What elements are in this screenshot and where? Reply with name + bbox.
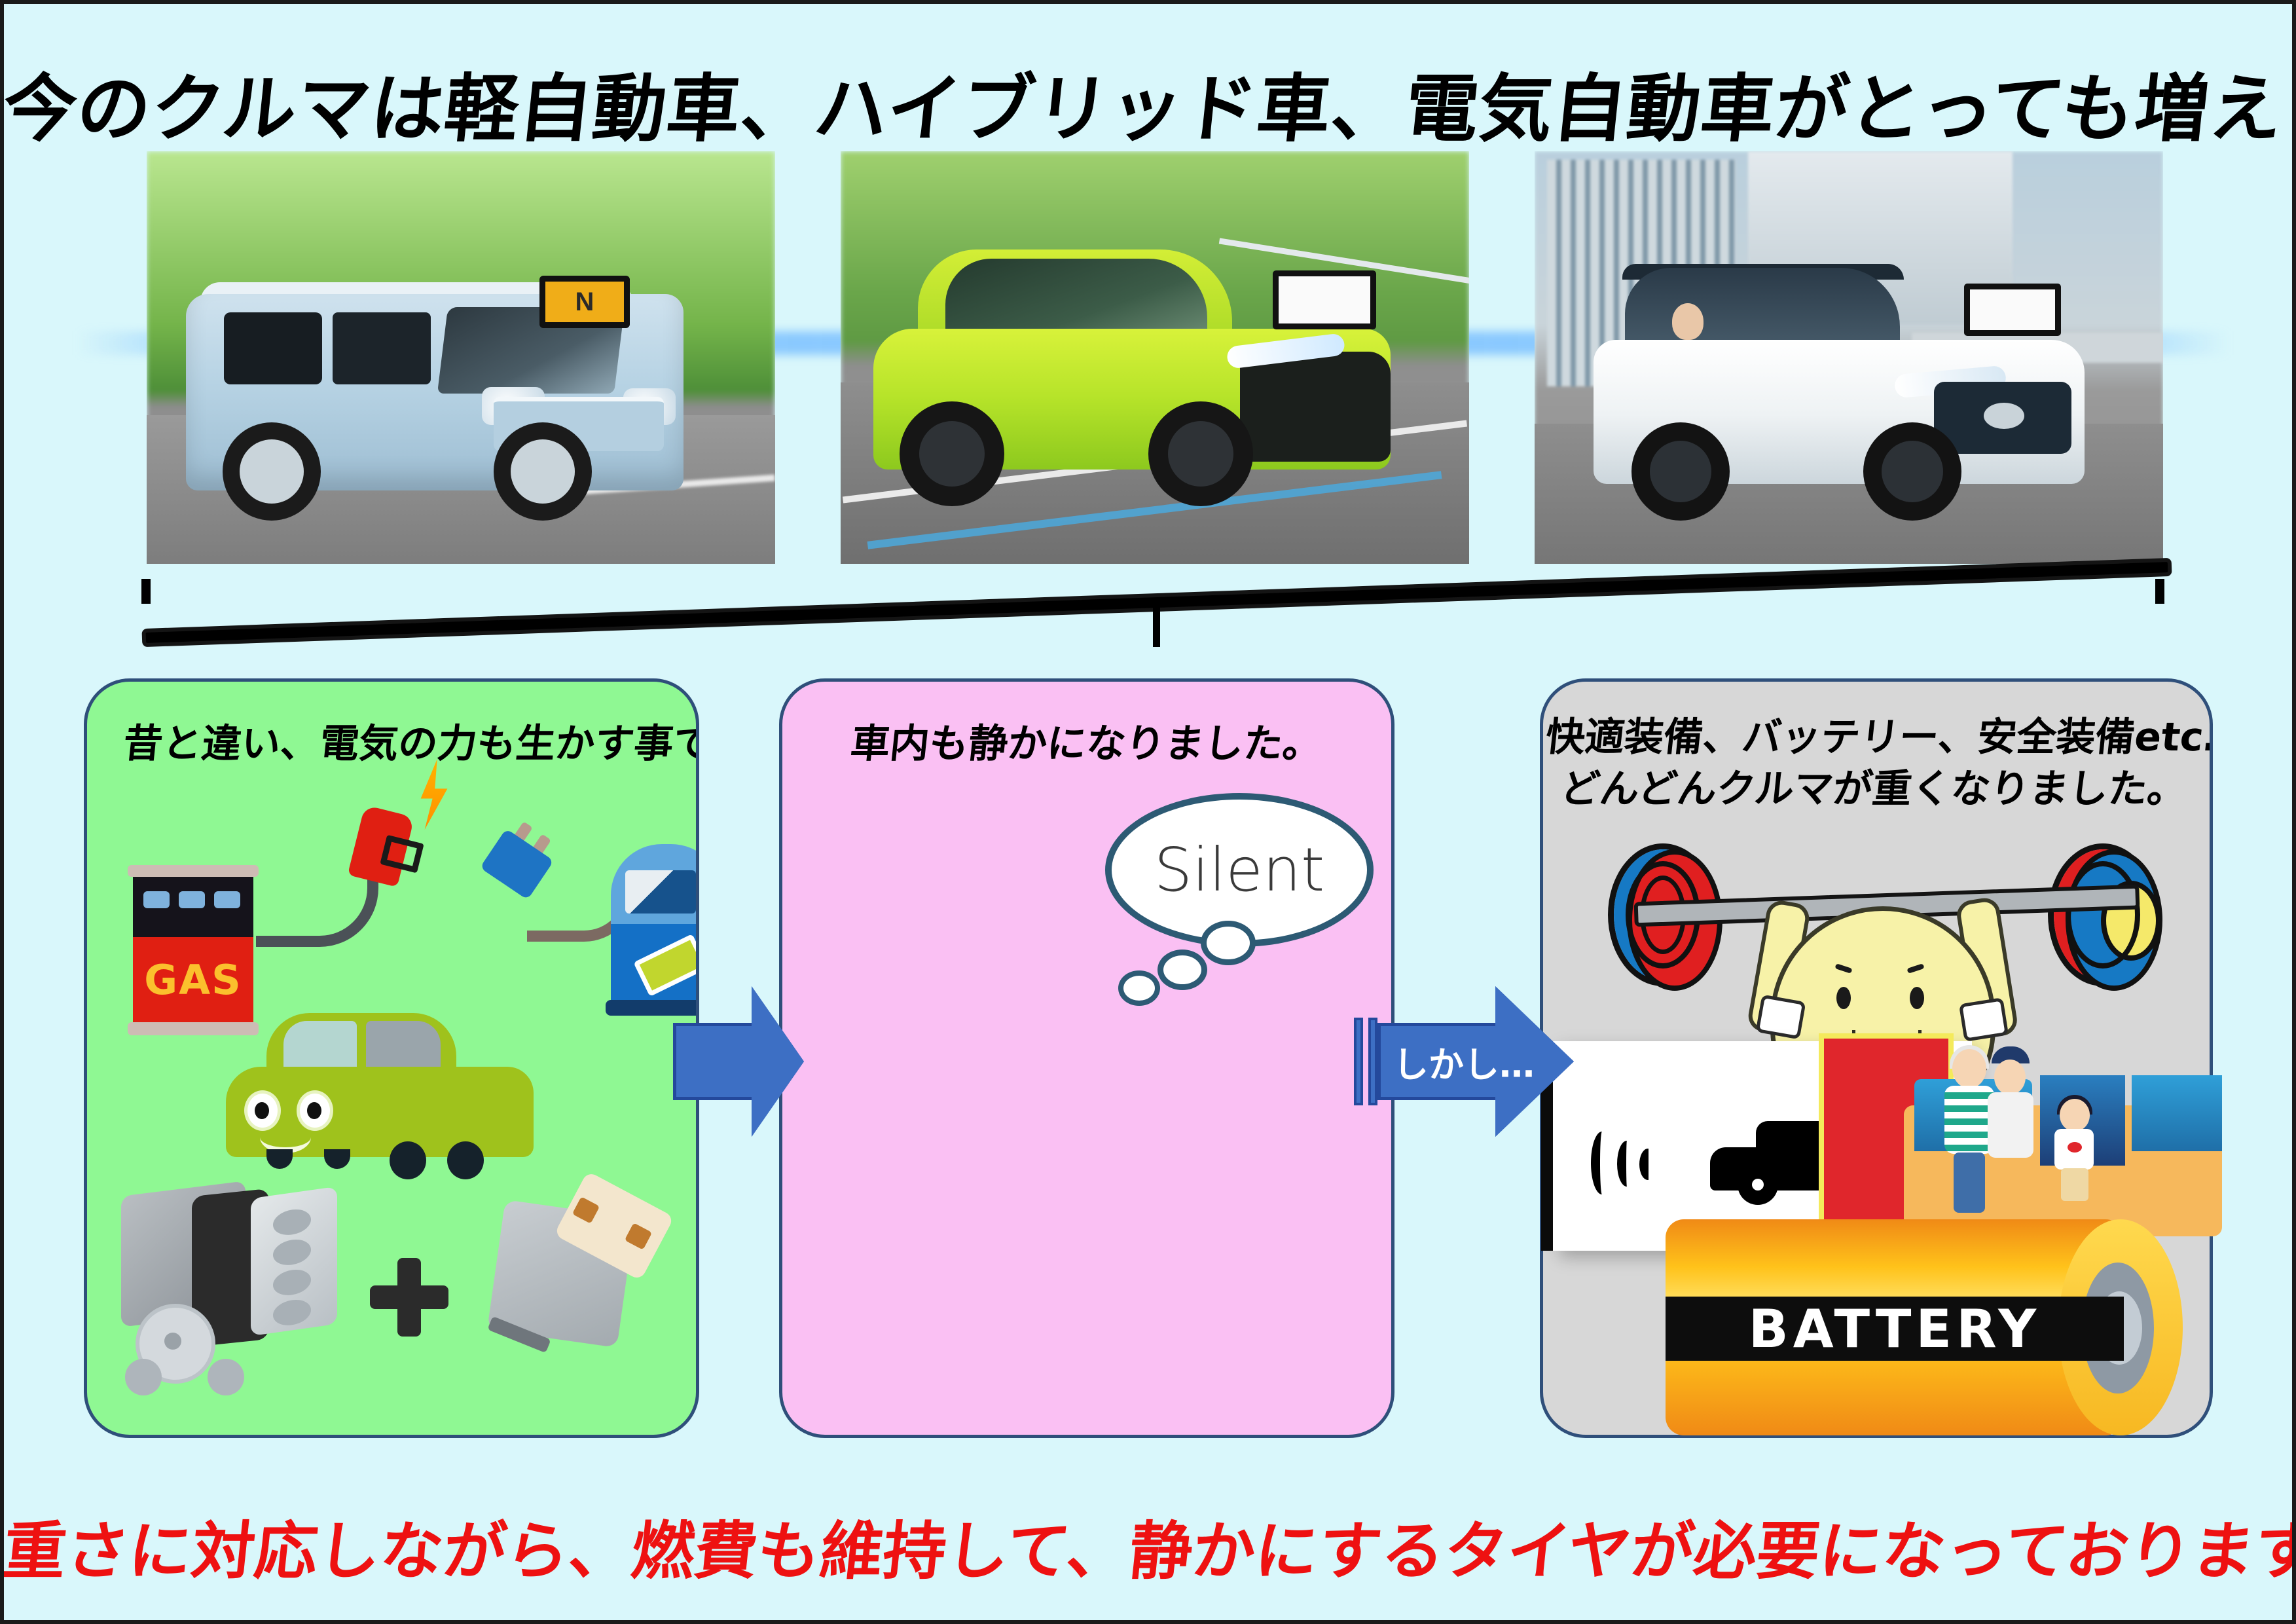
plus-sign-icon bbox=[370, 1258, 448, 1337]
license-plate: N bbox=[539, 276, 630, 328]
car-photo-row: N bbox=[4, 151, 2292, 564]
panel-electric-power: 昔と違い、電気の力も生かす事で… GAS bbox=[84, 678, 699, 1438]
gas-pump-label: GAS bbox=[144, 956, 242, 1004]
panel-gray-heading-line2: どんどんクルマが重くなりました。 bbox=[1540, 764, 2210, 815]
panel-pink-heading: 車内も静かになりました。 bbox=[779, 712, 1394, 769]
panel-green-heading: 昔と違い、電気の力も生かす事で… bbox=[84, 712, 699, 769]
thought-bubble-large bbox=[1201, 921, 1256, 965]
infographic-page: 今のクルマは軽自動車、ハイブリッド車、電気自動車がとっても増えました。 N bbox=[0, 0, 2296, 1624]
battery-label: BATTERY bbox=[1749, 1299, 2041, 1359]
fuel-nozzle-icon bbox=[348, 805, 414, 887]
battery-icon: BATTERY bbox=[1666, 1219, 2183, 1435]
hybrid-car-illustration bbox=[873, 249, 1397, 511]
panel-quiet-cabin: 車内も静かになりました。 bbox=[779, 678, 1394, 1438]
panel-gray-heading-line1: 快適装備、バッテリー、安全装備etc…。 bbox=[1543, 712, 2213, 764]
green-smiling-car-icon bbox=[226, 1009, 534, 1179]
fuel-hose-icon bbox=[256, 878, 378, 947]
electric-car-illustration bbox=[1594, 263, 2091, 525]
photo-kei-car: N bbox=[147, 151, 775, 564]
arrow-pink-to-gray: しかし… bbox=[1377, 986, 1574, 1137]
photo-hybrid-car bbox=[841, 151, 1469, 564]
arrow-label-however: しかし… bbox=[1393, 1036, 1535, 1088]
footer-conclusion: 重さに対応しながら、燃費も維持して、静かにするタイヤが必要になっております。 bbox=[0, 1500, 2296, 1591]
thought-bubble-medium bbox=[1157, 950, 1207, 990]
grouping-brace bbox=[141, 579, 2164, 601]
panel-gray-heading: 快適装備、バッテリー、安全装備etc…。 どんどんクルマが重くなりました。 bbox=[1540, 712, 2213, 815]
thought-bubble-small bbox=[1118, 970, 1160, 1006]
photo-electric-car bbox=[1535, 151, 2163, 564]
silent-bubble-text: Silent bbox=[1154, 835, 1325, 905]
lightning-bolt-icon bbox=[414, 759, 454, 830]
arrow-green-to-pink bbox=[673, 986, 804, 1137]
electric-motor-icon bbox=[488, 1186, 684, 1382]
engine-icon bbox=[121, 1179, 337, 1395]
page-title: 今のクルマは軽自動車、ハイブリッド車、電気自動車がとっても増えました。 bbox=[0, 50, 2296, 156]
kei-car-illustration: N bbox=[186, 255, 697, 530]
